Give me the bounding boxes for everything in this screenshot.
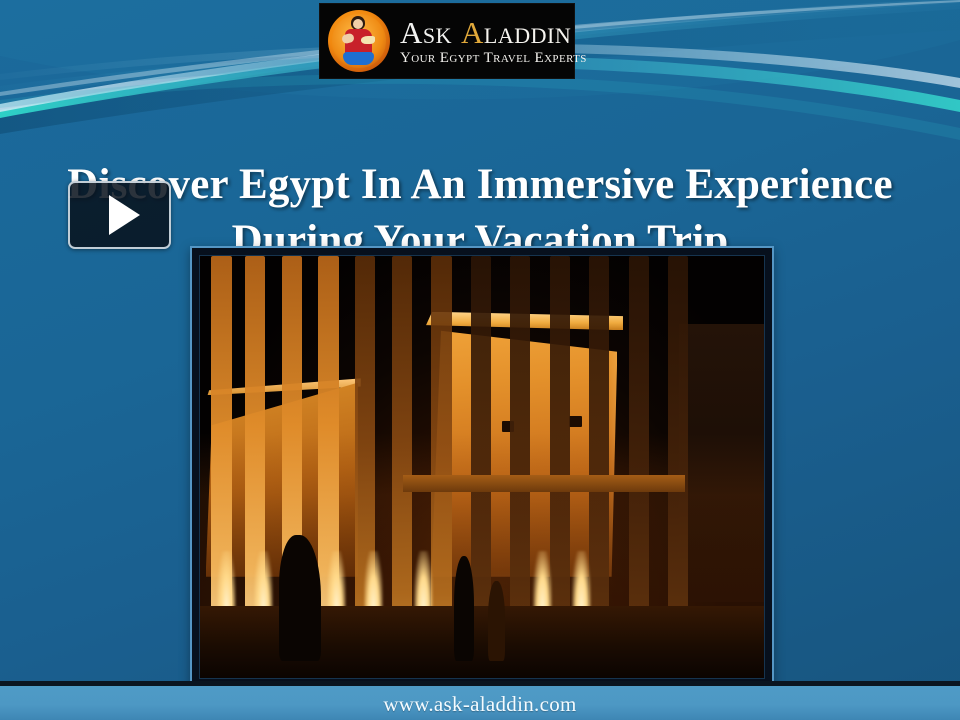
brand-logo[interactable]: AskAladdin Your Egypt Travel Experts [320,4,574,78]
visitor-silhouette [279,535,321,662]
play-button[interactable] [68,181,171,249]
brand-name-word-2-rest: laddin [484,15,571,50]
brand-logo-text: AskAladdin Your Egypt Travel Experts [400,17,587,66]
aladdin-genie-emblem-icon [328,10,390,72]
brand-name: AskAladdin [400,17,587,48]
visitor-silhouette [454,556,474,662]
brand-tagline: Your Egypt Travel Experts [400,51,587,66]
visitor-silhouette [488,581,505,661]
temple-photo [199,255,765,679]
footer-website-url[interactable]: www.ask-aladdin.com [0,692,960,717]
play-triangle-icon [109,195,140,235]
brand-name-word-1: Ask [400,15,452,50]
presentation-slide: AskAladdin Your Egypt Travel Experts Dis… [0,0,960,720]
brand-name-word-2-cap: A [461,15,484,50]
temple-photo-frame [190,246,774,688]
